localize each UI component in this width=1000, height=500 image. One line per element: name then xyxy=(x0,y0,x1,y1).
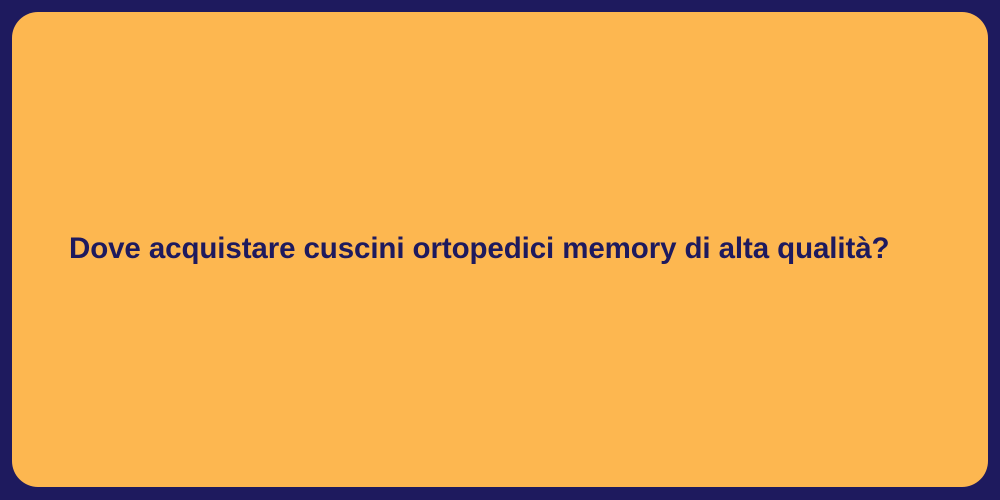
page-title: Dove acquistare cuscini ortopedici memor… xyxy=(69,231,889,268)
card-border-frame: Dove acquistare cuscini ortopedici memor… xyxy=(0,0,1000,500)
card-surface: Dove acquistare cuscini ortopedici memor… xyxy=(12,12,988,487)
